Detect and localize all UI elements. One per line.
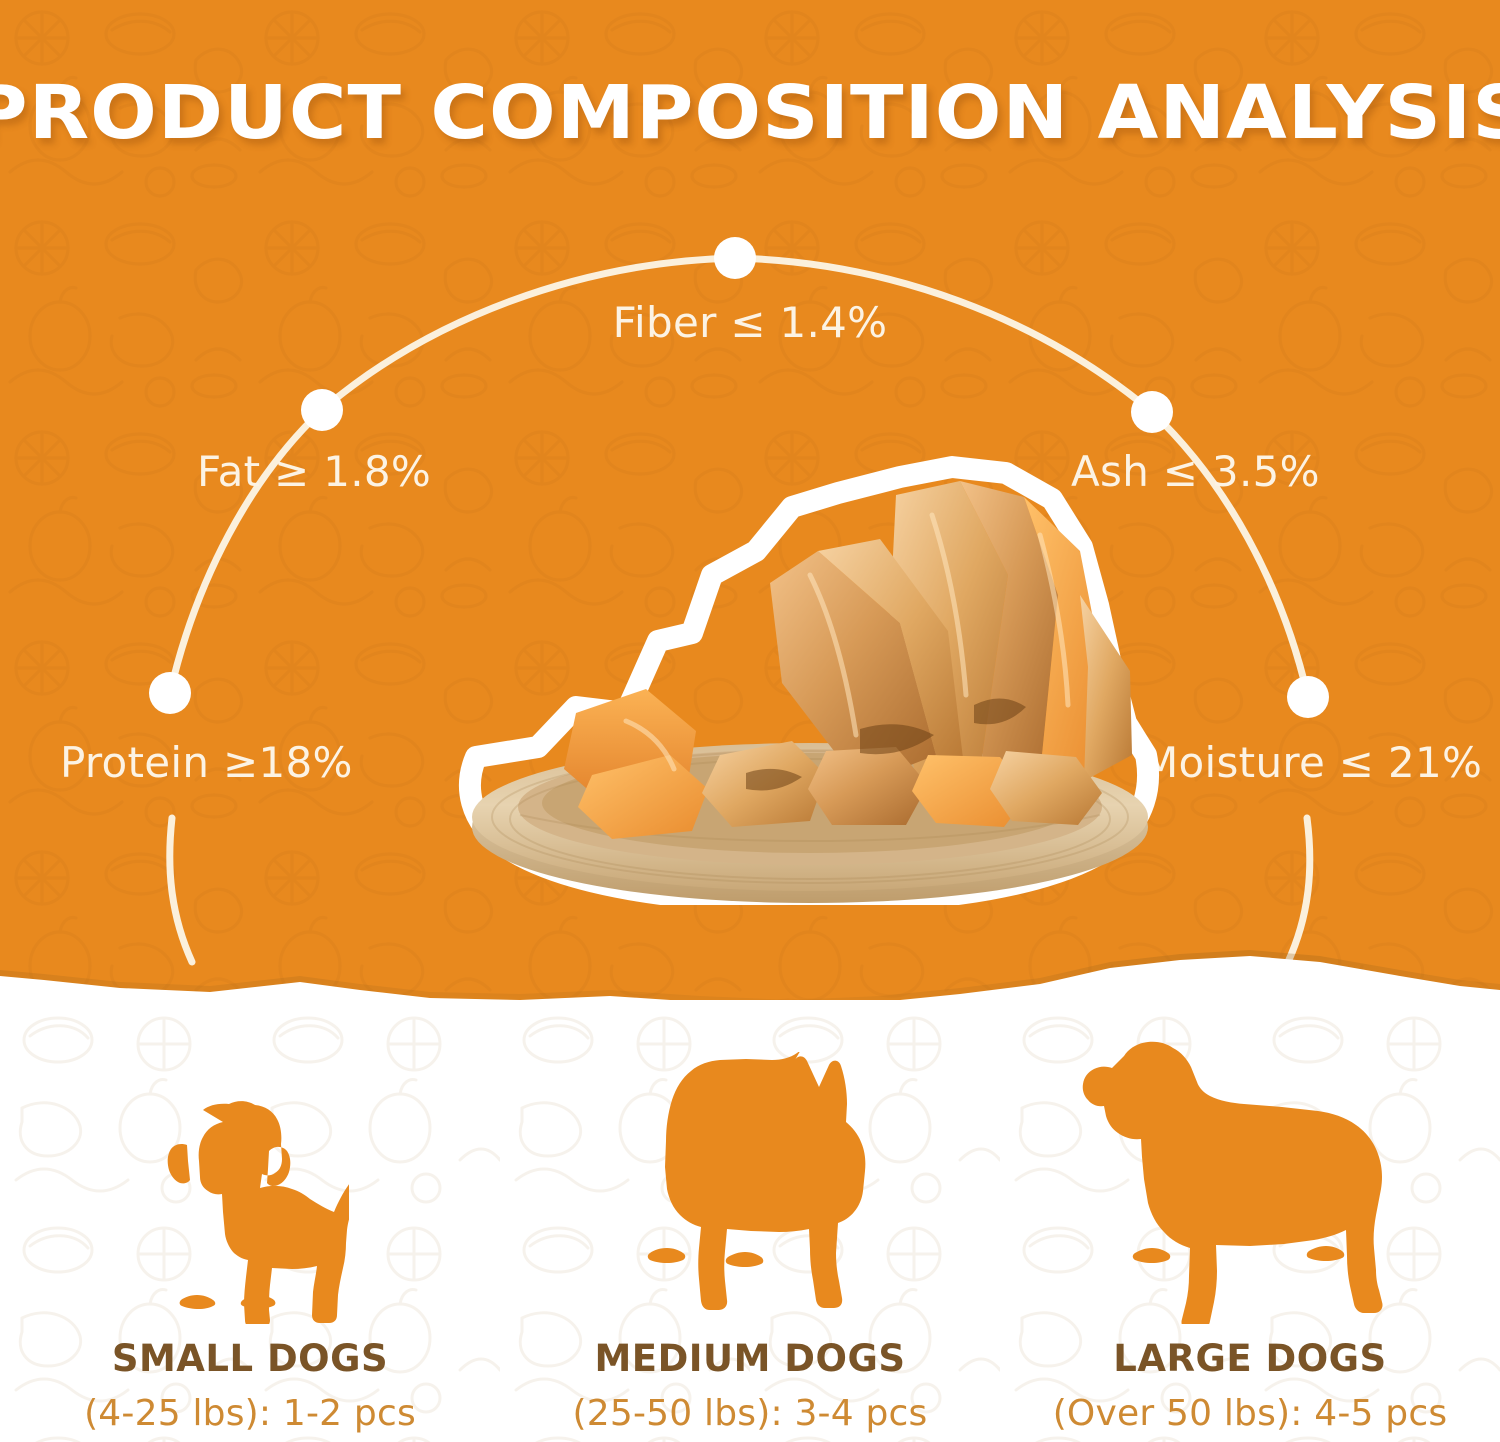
dog-size-row: SMALL DOGS (4-25 lbs): 1-2 pcs MEDIUM DO…: [0, 1000, 1500, 1442]
node-fat: [301, 389, 343, 431]
medium-dog-silhouette-icon: [627, 1052, 873, 1324]
size-column-large[interactable]: LARGE DOGS (Over 50 lbs): 4-5 pcs: [1000, 1000, 1500, 1442]
node-moisture: [1287, 676, 1329, 718]
spec-label-protein: Protein ≥18%: [60, 738, 353, 787]
infographic-page: PRODUCT COMPOSITION ANALYSIS: [0, 0, 1500, 1442]
size-detail-medium: (25-50 lbs): 3-4 pcs: [500, 1393, 1000, 1434]
size-title-large: LARGE DOGS: [1000, 1337, 1500, 1380]
size-detail-large: (Over 50 lbs): 4-5 pcs: [1000, 1393, 1500, 1434]
node-fiber: [714, 237, 756, 279]
size-title-small: SMALL DOGS: [0, 1337, 500, 1380]
node-ash: [1131, 391, 1173, 433]
page-title: PRODUCT COMPOSITION ANALYSIS: [0, 70, 1500, 156]
size-detail-small: (4-25 lbs): 1-2 pcs: [0, 1393, 500, 1434]
product-photo-treats-on-plate: [340, 455, 1160, 905]
small-dog-icon-wrap: [0, 1099, 500, 1324]
large-dog-silhouette-icon: [1080, 1034, 1420, 1324]
size-title-medium: MEDIUM DOGS: [500, 1337, 1000, 1380]
node-protein: [149, 672, 191, 714]
orange-hero-panel: PRODUCT COMPOSITION ANALYSIS: [0, 0, 1500, 1010]
feeding-guide-section: SMALL DOGS (4-25 lbs): 1-2 pcs MEDIUM DO…: [0, 1000, 1500, 1442]
large-dog-icon-wrap: [1000, 1034, 1500, 1324]
size-column-medium[interactable]: MEDIUM DOGS (25-50 lbs): 3-4 pcs: [500, 1000, 1000, 1442]
spec-label-fiber: Fiber ≤ 1.4%: [0, 298, 1500, 347]
small-dog-silhouette-icon: [151, 1099, 349, 1324]
spec-label-moisture: Moisture ≤ 21%: [1142, 738, 1482, 787]
medium-dog-icon-wrap: [500, 1052, 1000, 1324]
size-column-small[interactable]: SMALL DOGS (4-25 lbs): 1-2 pcs: [0, 1000, 500, 1442]
